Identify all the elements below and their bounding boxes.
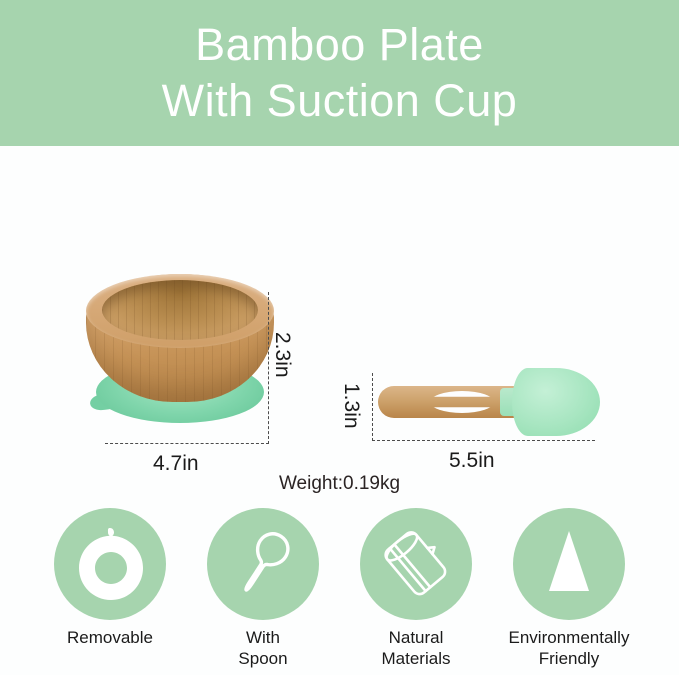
feature-with-spoon-label: With Spoon bbox=[238, 627, 287, 669]
infographic-page: Bamboo Plate With Suction Cup 2.3in 4.7i… bbox=[0, 0, 679, 675]
page-title-line-2: With Suction Cup bbox=[162, 73, 518, 129]
tree-icon bbox=[526, 521, 612, 607]
feature-removable-label: Removable bbox=[67, 627, 153, 648]
spoon-width-dimension-line bbox=[372, 440, 595, 441]
feature-removable-circle bbox=[54, 508, 166, 620]
weight-label: Weight:0.19kg bbox=[0, 473, 679, 495]
product-showcase: 2.3in 4.7in 1.3in 5.5in bbox=[0, 146, 679, 501]
suction-cup-ring-icon bbox=[67, 521, 153, 607]
feature-eco-friendly: Environmentally Friendly bbox=[499, 508, 639, 675]
spoon-height-label: 1.3in bbox=[339, 383, 363, 429]
header-banner: Bamboo Plate With Suction Cup bbox=[0, 0, 679, 146]
feature-eco-friendly-label: Environmentally Friendly bbox=[509, 627, 630, 669]
spoon-outline-icon bbox=[220, 521, 306, 607]
spoon-width-label: 5.5in bbox=[449, 449, 495, 473]
bowl-height-dimension-line bbox=[268, 292, 269, 444]
bowl-interior bbox=[102, 280, 258, 340]
feature-natural-materials-label: Natural Materials bbox=[382, 627, 451, 669]
bamboo-log-icon bbox=[373, 521, 459, 607]
feature-with-spoon: With Spoon bbox=[193, 508, 333, 675]
feature-icons-row: Removable With Spoon bbox=[0, 508, 679, 675]
feature-removable: Removable bbox=[40, 508, 180, 675]
page-title-line-1: Bamboo Plate bbox=[195, 17, 484, 73]
bamboo-spoon-image bbox=[378, 364, 600, 440]
bowl-width-dimension-line bbox=[105, 443, 269, 444]
bowl-height-label: 2.3in bbox=[270, 332, 294, 378]
feature-eco-friendly-circle bbox=[513, 508, 625, 620]
spoon-height-dimension-line bbox=[372, 373, 373, 441]
bamboo-bowl-image bbox=[80, 266, 280, 446]
feature-with-spoon-circle bbox=[207, 508, 319, 620]
feature-natural-materials: Natural Materials bbox=[346, 508, 486, 675]
spoon-silicone-head bbox=[512, 368, 600, 436]
feature-natural-materials-circle bbox=[360, 508, 472, 620]
